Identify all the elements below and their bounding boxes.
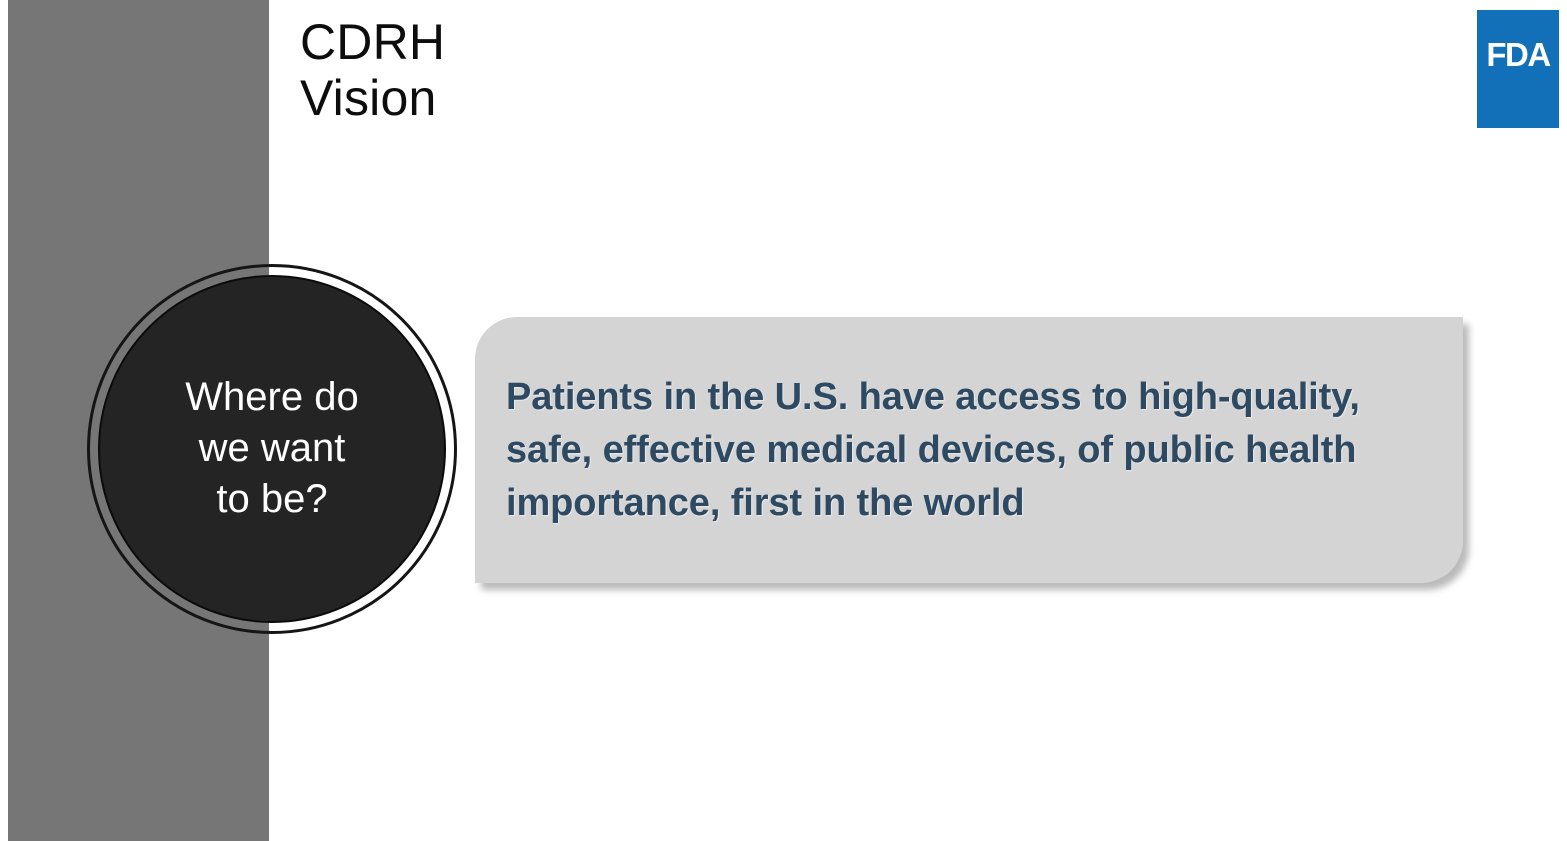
vision-statement-text: Patients in the U.S. have access to high… <box>475 371 1463 530</box>
circle-body: Where do we want to be? <box>98 275 446 623</box>
question-circle-callout: Where do we want to be? <box>87 264 457 634</box>
fda-logo: FDA <box>1477 10 1559 128</box>
slide-canvas: CDRH Vision FDA Where do we want to be? … <box>0 0 1567 841</box>
circle-question-label: Where do we want to be? <box>185 372 358 527</box>
fda-logo-text: FDA <box>1477 36 1559 74</box>
vision-statement-panel: Patients in the U.S. have access to high… <box>475 317 1463 583</box>
page-title: CDRH Vision <box>300 14 1000 126</box>
